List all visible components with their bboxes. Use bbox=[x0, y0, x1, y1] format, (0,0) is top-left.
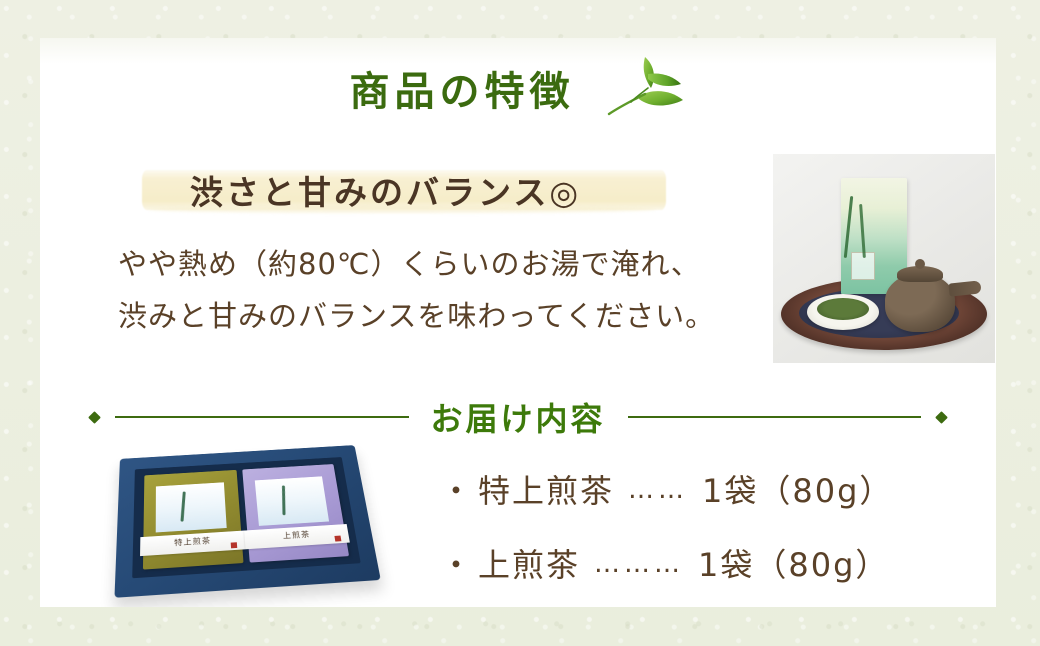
delivery-contents-list: ・ 特上煎茶 …… 1袋（80g） ・ 上煎茶 ……… 1袋（80g） bbox=[440, 466, 960, 607]
gift-box-right-label bbox=[255, 476, 329, 526]
list-item-leader-dots: ……… bbox=[594, 549, 684, 579]
list-item-quantity: 1袋（80g） bbox=[698, 540, 889, 586]
divider-diamond-left-icon bbox=[88, 411, 101, 424]
divider-line-right bbox=[628, 416, 922, 418]
photo-package-label bbox=[851, 252, 875, 280]
gift-box-photo: 特上煎茶 上煎茶 bbox=[112, 430, 380, 607]
list-item-leader-dots: …… bbox=[628, 475, 688, 505]
photo-tea-leaves bbox=[817, 298, 869, 320]
photo-kyusu-teapot bbox=[885, 274, 955, 332]
photo-teapot-spout bbox=[948, 280, 981, 296]
gift-box-right-seal-icon bbox=[334, 536, 341, 542]
feature-body-text: やや熱め（約80℃）くらいのお湯で淹れ、 渋みと甘みのバランスを味わってください… bbox=[118, 238, 778, 342]
gift-box-left-label bbox=[156, 482, 227, 532]
list-item: ・ 上煎茶 ……… 1袋（80g） bbox=[440, 540, 960, 586]
tea-leaf-icon bbox=[601, 52, 687, 124]
page-header: 商品の特徴 bbox=[40, 52, 996, 124]
gift-box-left-band-text: 特上煎茶 bbox=[140, 533, 245, 550]
divider-line-left bbox=[115, 416, 409, 418]
gift-box-interior: 特上煎茶 上煎茶 bbox=[132, 457, 361, 578]
feature-body-line-1: やや熱め（約80℃）くらいのお湯で淹れ、 bbox=[118, 238, 778, 290]
teapot-product-photo bbox=[773, 154, 995, 363]
list-item-quantity: 1袋（80g） bbox=[702, 466, 893, 512]
feature-subtitle-block: 渋さと甘みのバランス◎ bbox=[150, 164, 581, 216]
list-item-bullet-icon: ・ bbox=[440, 540, 474, 586]
divider-diamond-right-icon bbox=[935, 411, 948, 424]
list-item-bullet-icon: ・ bbox=[440, 466, 474, 512]
gift-box-body: 特上煎茶 上煎茶 bbox=[114, 445, 380, 598]
photo-teapot-knob bbox=[915, 259, 925, 269]
gift-box-left-band: 特上煎茶 bbox=[140, 531, 246, 557]
page-title: 商品の特徴 bbox=[350, 59, 575, 117]
feature-subtitle: 渋さと甘みのバランス◎ bbox=[150, 166, 581, 214]
list-item-name: 上煎茶 bbox=[478, 540, 580, 586]
page-background: 商品の特徴 bbox=[0, 0, 1040, 646]
gift-box-left-seal-icon bbox=[231, 542, 238, 548]
gift-box-package-right: 上煎茶 bbox=[242, 464, 349, 563]
feature-body-line-2: 渋みと甘みのバランスを味わってください。 bbox=[118, 290, 778, 342]
gift-box-right-band-text: 上煎茶 bbox=[244, 527, 349, 544]
list-item: ・ 特上煎茶 …… 1袋（80g） bbox=[440, 466, 960, 512]
gift-box-package-left: 特上煎茶 bbox=[143, 470, 244, 570]
delivery-section-title: お届け内容 bbox=[425, 394, 612, 440]
gift-box-right-band: 上煎茶 bbox=[244, 524, 350, 549]
content-card: 商品の特徴 bbox=[40, 38, 996, 607]
list-item-name: 特上煎茶 bbox=[478, 466, 614, 512]
